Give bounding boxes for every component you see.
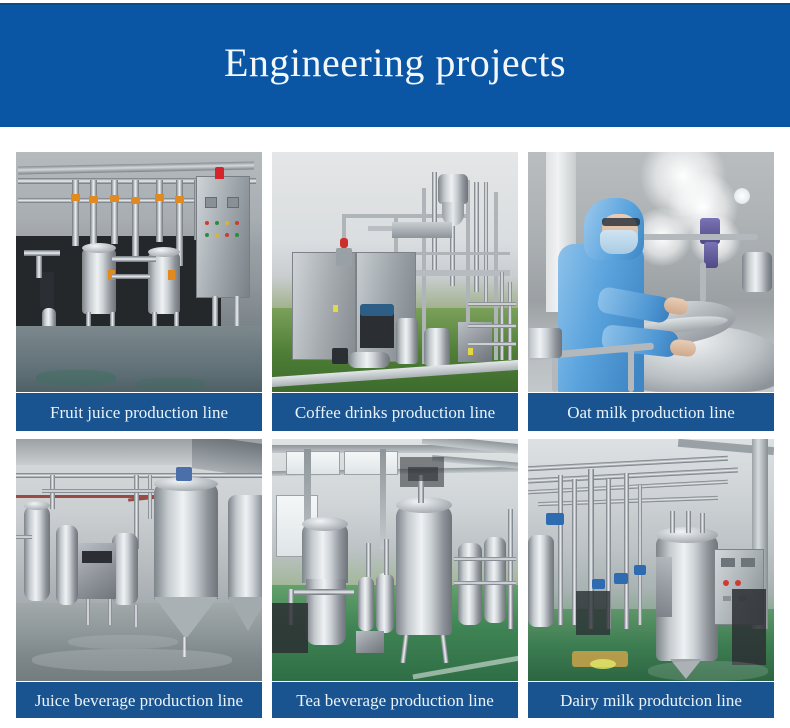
project-photo-oat-milk — [528, 152, 774, 392]
project-caption: Oat milk production line — [528, 393, 774, 431]
page-title: Engineering projects — [224, 43, 566, 83]
project-photo-fruit-juice — [16, 152, 262, 392]
project-photo-tea-beverage — [272, 439, 518, 681]
project-photo-juice-beverage — [16, 439, 262, 681]
project-card[interactable]: Juice beverage production line — [16, 439, 262, 718]
project-caption: Tea beverage production line — [272, 682, 518, 718]
project-card[interactable]: Coffee drinks production line — [272, 152, 518, 431]
project-caption: Dairy milk produtcion line — [528, 682, 774, 718]
page-header-banner: Engineering projects — [0, 3, 790, 127]
project-caption: Coffee drinks production line — [272, 393, 518, 431]
project-photo-coffee-drinks — [272, 152, 518, 392]
project-photo-dairy-milk — [528, 439, 774, 681]
project-card[interactable]: Fruit juice production line — [16, 152, 262, 431]
project-card[interactable]: Oat milk production line — [528, 152, 774, 431]
project-caption: Fruit juice production line — [16, 393, 262, 431]
project-card[interactable]: Dairy milk produtcion line — [528, 439, 774, 718]
project-card[interactable]: Tea beverage production line — [272, 439, 518, 718]
project-caption: Juice beverage production line — [16, 682, 262, 718]
project-gallery-grid: Fruit juice production line — [16, 152, 774, 718]
